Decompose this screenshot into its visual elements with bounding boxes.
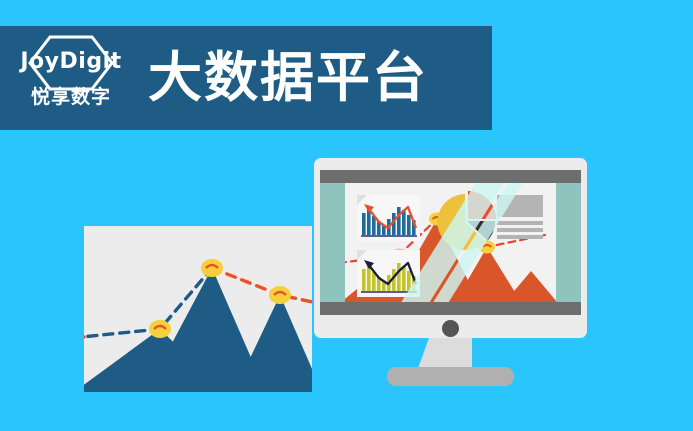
trend-arrow-head xyxy=(364,260,374,269)
trend-line-red xyxy=(212,268,312,304)
mountain-line-chart-panel xyxy=(84,226,312,392)
screen-content-area xyxy=(345,183,556,302)
page-fold-corner xyxy=(357,195,367,205)
pie-chart xyxy=(435,191,497,253)
document-placeholder xyxy=(497,195,543,237)
document-image-block xyxy=(497,195,543,217)
data-point-marker xyxy=(201,259,223,277)
page-title: 大数据平台 xyxy=(148,51,428,105)
poster-canvas: JoyDigit 悦享数字 大数据平台 xyxy=(0,0,693,431)
monitor-stand-base xyxy=(387,367,514,386)
brand-logo: JoyDigit 悦享数字 xyxy=(12,33,130,123)
monitor-screen xyxy=(320,183,581,302)
bar-chart-card-yellow xyxy=(357,250,420,297)
data-point-marker xyxy=(269,286,291,304)
page-fold-corner xyxy=(357,250,367,260)
mountain-shape xyxy=(505,271,556,302)
trend-arrow-head xyxy=(364,204,374,213)
monitor-bottom-bezel xyxy=(320,302,581,315)
desktop-monitor xyxy=(314,158,587,338)
document-text-line xyxy=(497,228,543,232)
monitor-top-bezel xyxy=(320,170,581,183)
document-text-line xyxy=(497,235,543,239)
data-point-marker xyxy=(149,320,171,338)
bar-chart-card-blue xyxy=(357,195,420,241)
left-panel-chart xyxy=(84,226,312,392)
pie-slice-b xyxy=(468,191,496,219)
logo-wordmark: JoyDigit xyxy=(20,49,121,74)
mountain-shape xyxy=(234,295,312,392)
logo-subtitle: 悦享数字 xyxy=(31,82,111,109)
document-text-line xyxy=(497,221,543,225)
header-banner: JoyDigit 悦享数字 大数据平台 xyxy=(0,26,492,130)
power-button-icon[interactable] xyxy=(442,320,459,337)
